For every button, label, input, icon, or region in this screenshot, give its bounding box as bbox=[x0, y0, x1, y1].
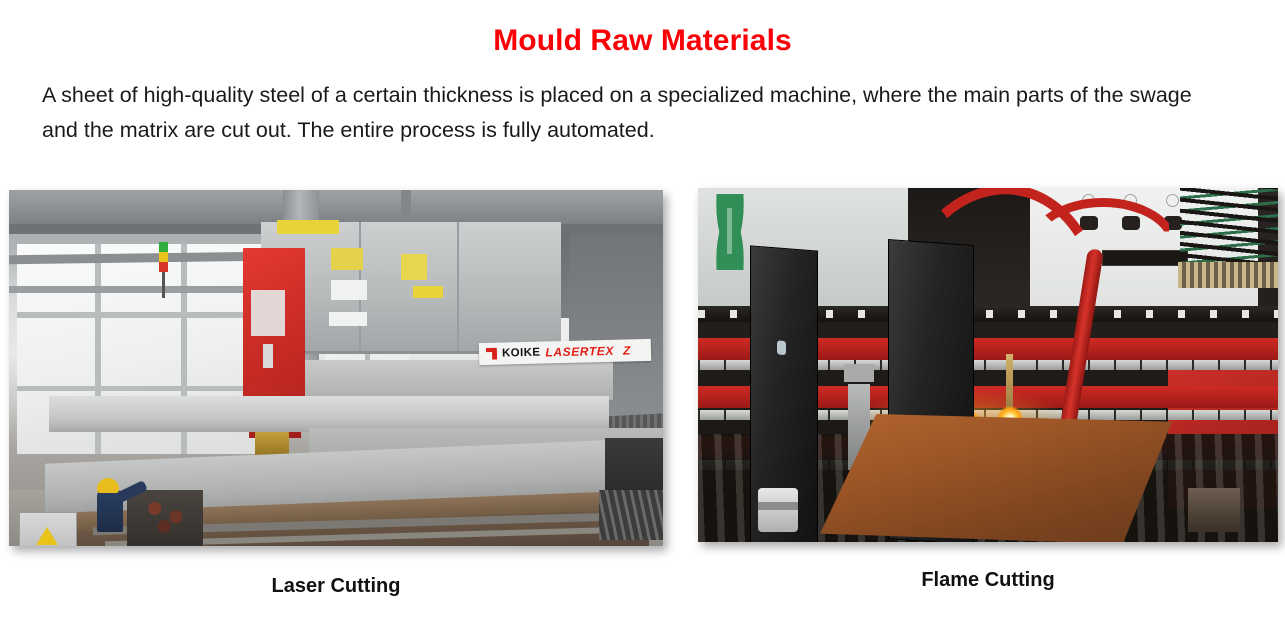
photo-flame-cutting bbox=[698, 188, 1278, 542]
description-paragraph: A sheet of high-quality steel of a certa… bbox=[42, 78, 1202, 148]
housing-panel bbox=[251, 290, 285, 336]
machine-nameplate bbox=[1102, 250, 1188, 266]
warning-label bbox=[331, 248, 363, 270]
enclosure-seam bbox=[457, 222, 459, 351]
machine-enclosure bbox=[261, 222, 561, 354]
hazard-triangle-icon bbox=[36, 527, 58, 545]
canister-band bbox=[758, 502, 798, 510]
laser-head-housing bbox=[243, 248, 305, 398]
ceiling-beam bbox=[9, 190, 663, 224]
warning-label bbox=[401, 254, 427, 280]
warning-label bbox=[413, 286, 443, 298]
signal-tower-pole bbox=[162, 272, 165, 298]
machine-brand-plate: KOIKE LASERTEX Z bbox=[479, 339, 651, 365]
window-mullion bbox=[17, 312, 279, 318]
figure-flame-cutting: Flame Cutting bbox=[698, 188, 1278, 542]
stacked-steel-bars bbox=[599, 490, 663, 540]
gas-canister bbox=[758, 488, 798, 532]
figure-laser-cutting: KOIKE LASERTEX Z bbox=[9, 190, 663, 546]
koike-logo-icon bbox=[486, 348, 497, 360]
gas-manifold-head bbox=[844, 364, 874, 382]
gantry-upper-beam bbox=[257, 360, 613, 400]
wall-sign-stem bbox=[727, 208, 732, 254]
figure-caption-flame-cutting: Flame Cutting bbox=[698, 569, 1278, 592]
info-placard bbox=[331, 280, 367, 300]
scrap-block bbox=[1188, 488, 1240, 532]
hose-bundle bbox=[135, 486, 201, 542]
info-placard bbox=[329, 312, 367, 326]
model-name: LASERTEX bbox=[545, 344, 614, 360]
signal-tower-light bbox=[159, 242, 168, 272]
worker-hard-hat bbox=[97, 478, 119, 493]
brand-name: KOIKE bbox=[502, 347, 541, 360]
status-led bbox=[777, 340, 786, 355]
figure-caption-laser-cutting: Laser Cutting bbox=[9, 575, 663, 598]
panel-dial bbox=[1166, 194, 1179, 207]
page-title: Mould Raw Materials bbox=[0, 24, 1285, 58]
control-cabinet bbox=[19, 512, 77, 546]
gantry-main-beam bbox=[49, 396, 609, 432]
figure-row: KOIKE LASERTEX Z bbox=[0, 188, 1285, 608]
housing-strip bbox=[263, 344, 273, 368]
slide-root: Mould Raw Materials A sheet of high-qual… bbox=[0, 0, 1285, 619]
model-suffix: Z bbox=[623, 343, 631, 357]
photo-laser-cutting: KOIKE LASERTEX Z bbox=[9, 190, 663, 546]
cable-bundle bbox=[1180, 188, 1278, 268]
steel-plate-being-cut bbox=[820, 414, 1172, 542]
window-mullion bbox=[17, 386, 279, 391]
terminal-block bbox=[1178, 262, 1278, 288]
warning-label bbox=[277, 220, 339, 234]
